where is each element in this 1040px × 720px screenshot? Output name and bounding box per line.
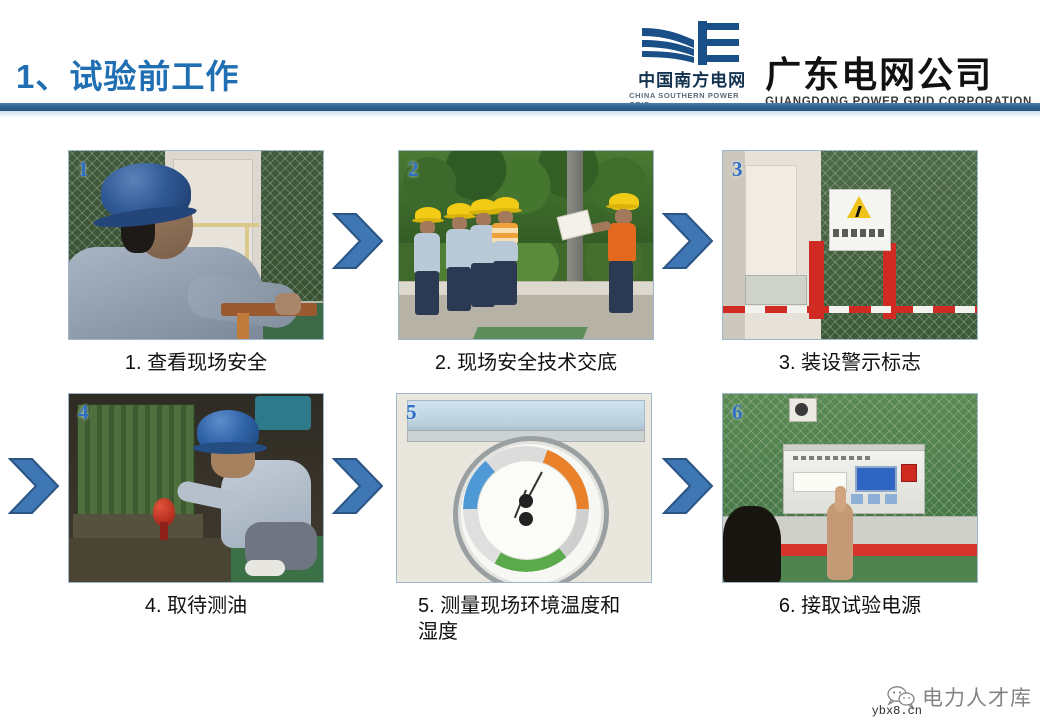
chevron-right-arrow-icon-2 [660,210,716,272]
chevron-right-arrow-icon-5 [660,455,716,517]
step-3-photo: 3 [722,150,978,340]
step-6-photo: 6 [722,393,978,583]
step-1-caption: 1. 查看现场安全 [68,351,324,377]
watermark-text: 电力人才库 [922,682,1032,712]
step-1: 1 1. 查看现场安全 [68,150,324,377]
step-1-number: 1 [78,157,89,182]
step-5: 5 5. 测量现场环境温度和湿度 [396,393,652,645]
page-title: 1、试验前工作 [16,50,239,98]
slide: 1、试验前工作 中国南方电网 CHINA SOUTHERN POWER GRID… [0,0,1040,720]
step-6-number: 6 [732,400,743,425]
watermark-url: ybx8.cn [872,704,922,718]
header-divider-light [0,111,1040,118]
slide-header: 1、试验前工作 中国南方电网 CHINA SOUTHERN POWER GRID… [0,0,1040,103]
step-4: 4 4. 取待测油 [68,393,324,620]
step-5-number: 5 [406,400,417,425]
step-5-caption: 5. 测量现场环境温度和湿度 [418,594,634,645]
chevron-right-arrow-icon-4 [330,455,386,517]
brand-chinese-name: 广东电网公司 [765,56,993,93]
step-2: 2 2. 现场安全技术交底 [398,150,654,377]
step-4-caption: 4. 取待测油 [68,594,324,620]
step-2-caption: 2. 现场安全技术交底 [398,351,654,377]
step-6-caption: 6. 接取试验电源 [722,594,978,620]
logo-chinese-name: 中国南方电网 [638,72,746,90]
step-2-number: 2 [408,157,419,182]
step-5-photo: 5 [396,393,652,583]
step-3: 3 3. 装设警示标志 [722,150,978,377]
step-4-photo: 4 [68,393,324,583]
chevron-right-arrow-icon-3 [6,455,62,517]
step-4-number: 4 [78,400,89,425]
step-3-caption: 3. 装设警示标志 [722,351,978,377]
header-divider-dark [0,103,1040,111]
step-1-photo: 1 [68,150,324,340]
chevron-right-arrow-icon-1 [330,210,386,272]
step-2-photo: 2 [398,150,654,340]
southern-power-grid-mark-icon [640,18,744,70]
step-6: 6 6. 接取试验电源 [722,393,978,620]
step-3-number: 3 [732,157,743,182]
company-logo: 中国南方电网 CHINA SOUTHERN POWER GRID 广东电网公司 … [629,18,1032,109]
